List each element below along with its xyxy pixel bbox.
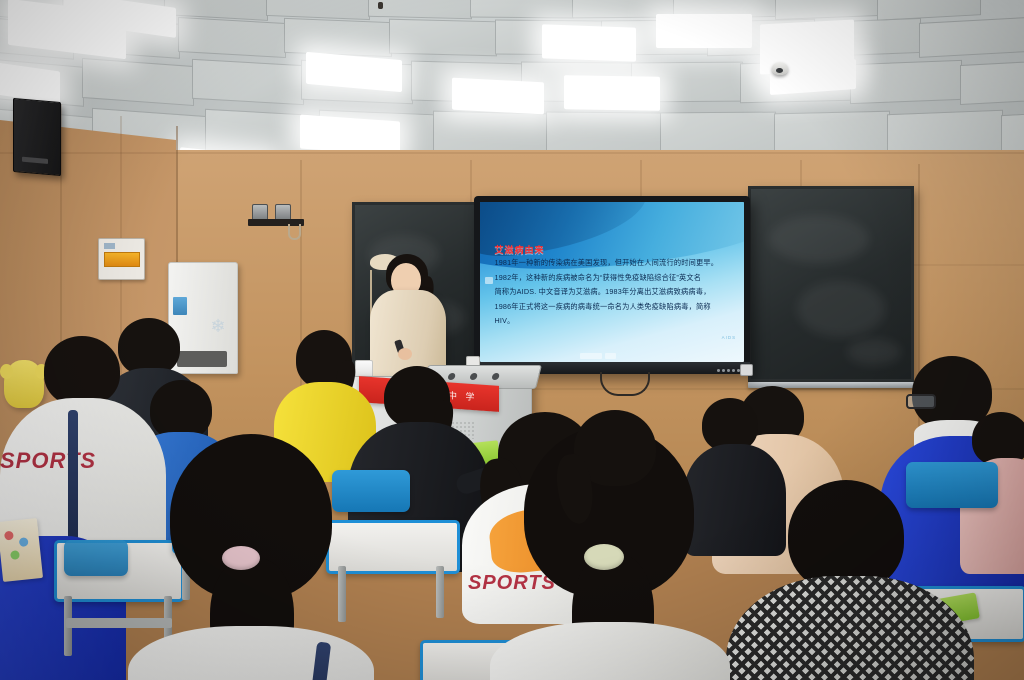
dome-camera-icon [772, 62, 788, 75]
ceiling-light [452, 78, 544, 115]
screen-corner-widget[interactable] [485, 277, 493, 284]
slide-line: 1986年正式将这一疾病的病毒统一命名为人类免疫缺陷病毒，简称 [495, 300, 730, 314]
ceiling-tile [775, 0, 879, 20]
slide-line: 1982年，这种新的疾病被命名为“获得性免疫缺陷综合征”英文名 [495, 271, 730, 285]
classroom-photo: ❄ 艾滋病由来 1981年一种新的传染病在美国发现，但开始在人间流行的时间更早。… [0, 0, 1024, 680]
ceiling-light [656, 14, 752, 48]
wall-seam [470, 160, 472, 206]
slide-watermark: AIDS [722, 335, 737, 340]
panel-label [104, 243, 115, 249]
hair-tie [584, 544, 624, 570]
breaker-window [104, 252, 140, 267]
ceiling-tile [389, 19, 497, 57]
ceiling-tile [368, 0, 472, 19]
booklet [0, 518, 43, 582]
ceiling-light [564, 75, 660, 111]
slide-body: 1981年一种新的传染病在美国发现，但开始在人间流行的时间更早。 1982年，这… [495, 256, 730, 328]
ac-display-strip [173, 297, 187, 315]
ceiling-tile [178, 17, 286, 58]
slide-screen[interactable]: 艾滋病由来 1981年一种新的传染病在美国发现，但开始在人间流行的时间更早。 1… [480, 202, 744, 362]
interactive-display[interactable]: 艾滋病由来 1981年一种新的传染病在美国发现，但开始在人间流行的时间更早。 1… [474, 196, 750, 374]
ceiling-tile [960, 59, 1024, 105]
student-ponytail-foreground [126, 434, 376, 680]
sprinkler-head-icon [378, 2, 383, 9]
slide-line: HIV。 [495, 314, 730, 328]
slide-title: 艾滋病由来 [495, 243, 545, 256]
taskbar-item[interactable] [580, 353, 602, 359]
student-head-midright [556, 410, 676, 540]
ceiling-tile [284, 18, 392, 57]
ceiling-tile [850, 59, 962, 103]
ceiling-light [542, 24, 636, 61]
display-indicator-leds [717, 369, 740, 372]
ceiling-tile [266, 0, 370, 20]
chair-back [64, 540, 128, 576]
teacher [370, 254, 446, 378]
teacher-hand [398, 348, 412, 360]
ir-sensor-icon [740, 364, 753, 376]
student-houndstooth-coat [726, 472, 956, 680]
slide-line: 简称为AIDS. 中文音译为艾滋病。1983年分离出艾滋病致病病毒， [495, 285, 730, 299]
electrical-panel [98, 238, 145, 280]
screen-taskbar[interactable] [580, 353, 616, 359]
wall-speaker-icon [13, 98, 61, 176]
jacket-text: SPORTS [0, 448, 96, 474]
snowflake-icon: ❄ [207, 315, 229, 337]
glasses-icon [906, 394, 936, 409]
taskbar-item[interactable] [605, 353, 616, 359]
ceiling-tile [877, 0, 981, 21]
ceiling-tile [919, 17, 1024, 58]
blackboard-right [748, 186, 914, 382]
ceiling-tile [470, 0, 574, 18]
jacket-stripe [68, 410, 78, 550]
wall-seam [0, 152, 1024, 154]
ceiling-tile [82, 58, 194, 106]
wall-bracket-sensors [248, 204, 304, 232]
hair-tie [222, 546, 260, 570]
display-cable [600, 372, 650, 396]
cable-loop [288, 224, 301, 240]
ceiling-tile [192, 58, 304, 104]
slide-line: 1981年一种新的传染病在美国发现，但开始在人间流行的时间更早。 [495, 256, 730, 270]
